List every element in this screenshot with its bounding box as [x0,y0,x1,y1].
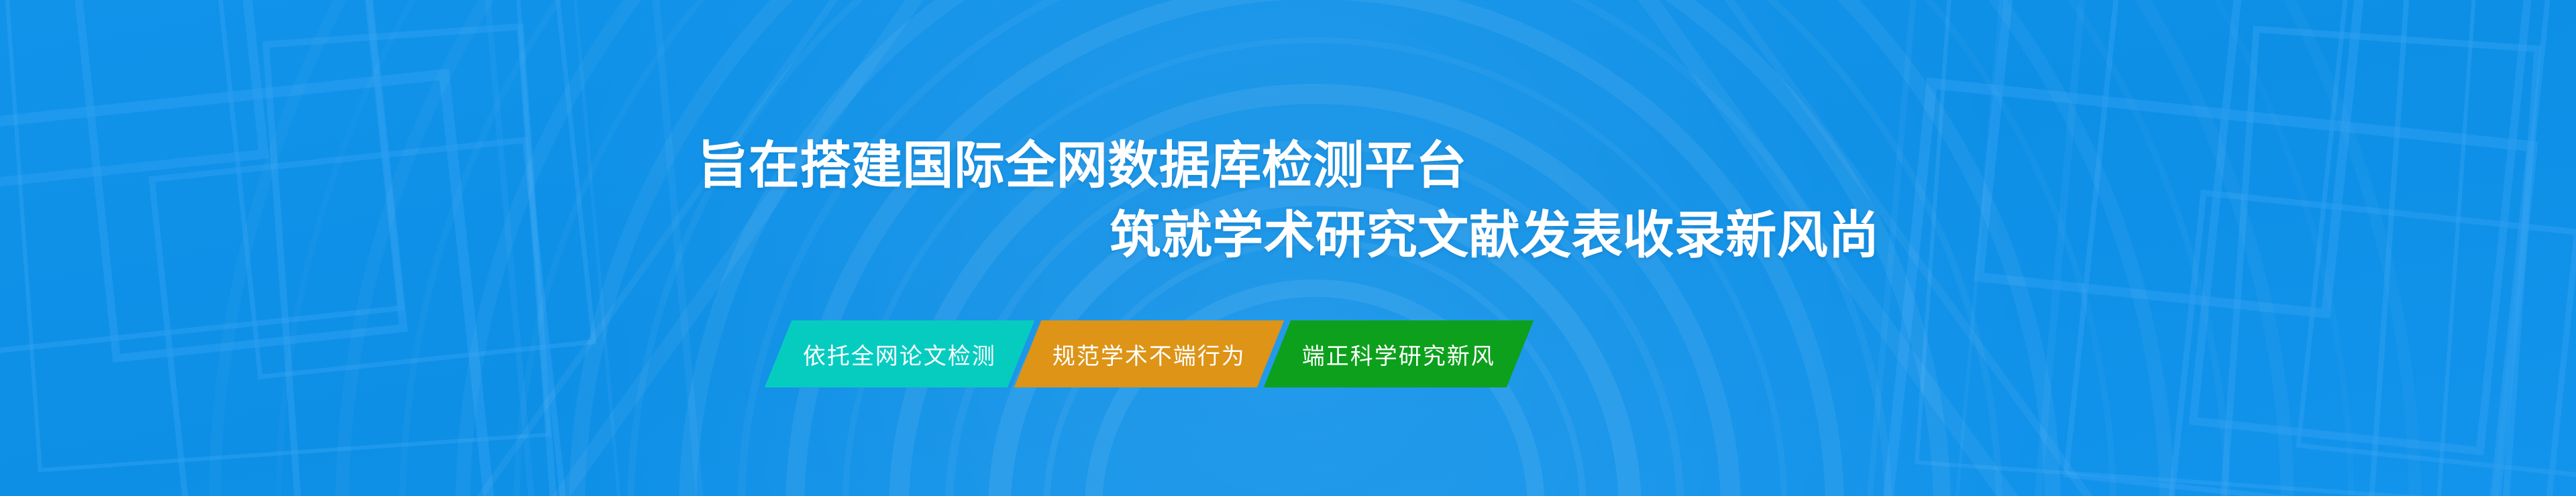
headline-line-2: 筑就学术研究文献发表收录新风尚 [0,201,2576,271]
tag-research-ethos-label: 端正科学研究新风 [1302,338,1495,371]
headline-line-1: 旨在搭建国际全网数据库检测平台 [0,131,2576,201]
tag-full-web-detection-label: 依托全网论文检测 [803,338,996,371]
headline: 旨在搭建国际全网数据库检测平台 筑就学术研究文献发表收录新风尚 [0,131,2576,271]
tag-academic-misconduct[interactable]: 规范学术不端行为 [1014,320,1284,387]
tag-research-ethos[interactable]: 端正科学研究新风 [1264,320,1534,387]
tag-academic-misconduct-label: 规范学术不端行为 [1053,338,1246,371]
promo-banner: 旨在搭建国际全网数据库检测平台 筑就学术研究文献发表收录新风尚 依托全网论文检测… [0,0,2576,496]
tag-full-web-detection[interactable]: 依托全网论文检测 [765,320,1034,387]
feature-tag-strip: 依托全网论文检测 规范学术不端行为 端正科学研究新风 [778,320,1520,387]
